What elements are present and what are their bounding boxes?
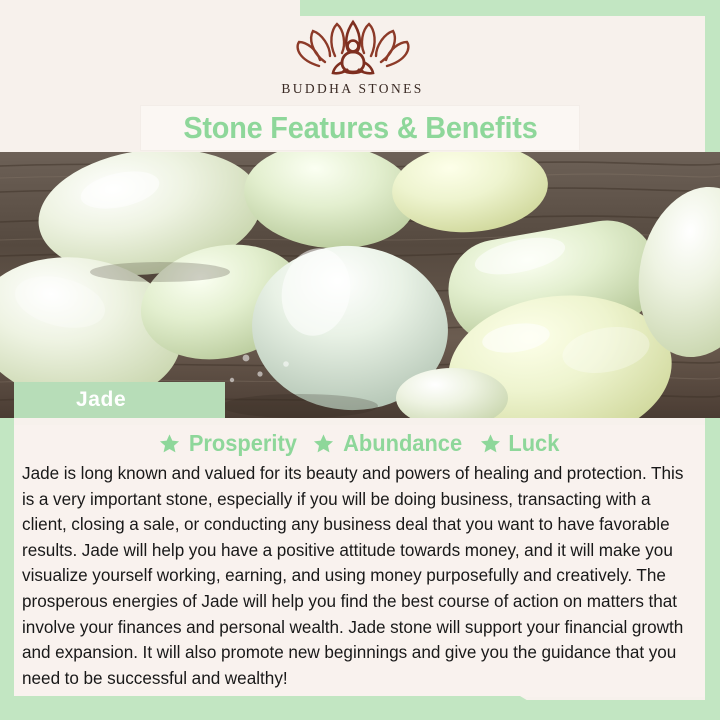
benefit-item-1: Abundance <box>313 430 465 457</box>
benefit-item-2: Luck <box>480 430 561 457</box>
benefit-item-0: Prosperity <box>159 430 300 457</box>
frame-topleft-cream-notch <box>0 0 300 18</box>
star-icon <box>159 433 180 454</box>
frame-top-green-band <box>300 0 720 17</box>
star-icon <box>313 433 334 454</box>
stone-name-text: Jade <box>76 388 126 412</box>
brand-name: BUDDHA STONES <box>281 81 423 97</box>
benefits-row: Prosperity Abundance Luck <box>14 425 705 461</box>
star-icon <box>480 433 501 454</box>
stone-name-label: Jade <box>14 382 225 418</box>
stone-info-card: BUDDHA STONES Stone Features & Benefits <box>0 0 720 720</box>
lotus-meditation-icon <box>289 18 417 80</box>
benefit-label-abundance: Abundance <box>344 430 463 457</box>
brand-logo: BUDDHA STONES <box>0 18 705 108</box>
description-block: Jade is long known and valued for its be… <box>14 461 705 697</box>
title-banner: Stone Features & Benefits <box>141 106 579 150</box>
page-title: Stone Features & Benefits <box>183 110 537 146</box>
hero-image <box>0 152 720 418</box>
description-text: Jade is long known and valued for its be… <box>22 461 691 691</box>
benefit-label-luck: Luck <box>508 430 559 457</box>
benefit-label-prosperity: Prosperity <box>189 430 297 457</box>
